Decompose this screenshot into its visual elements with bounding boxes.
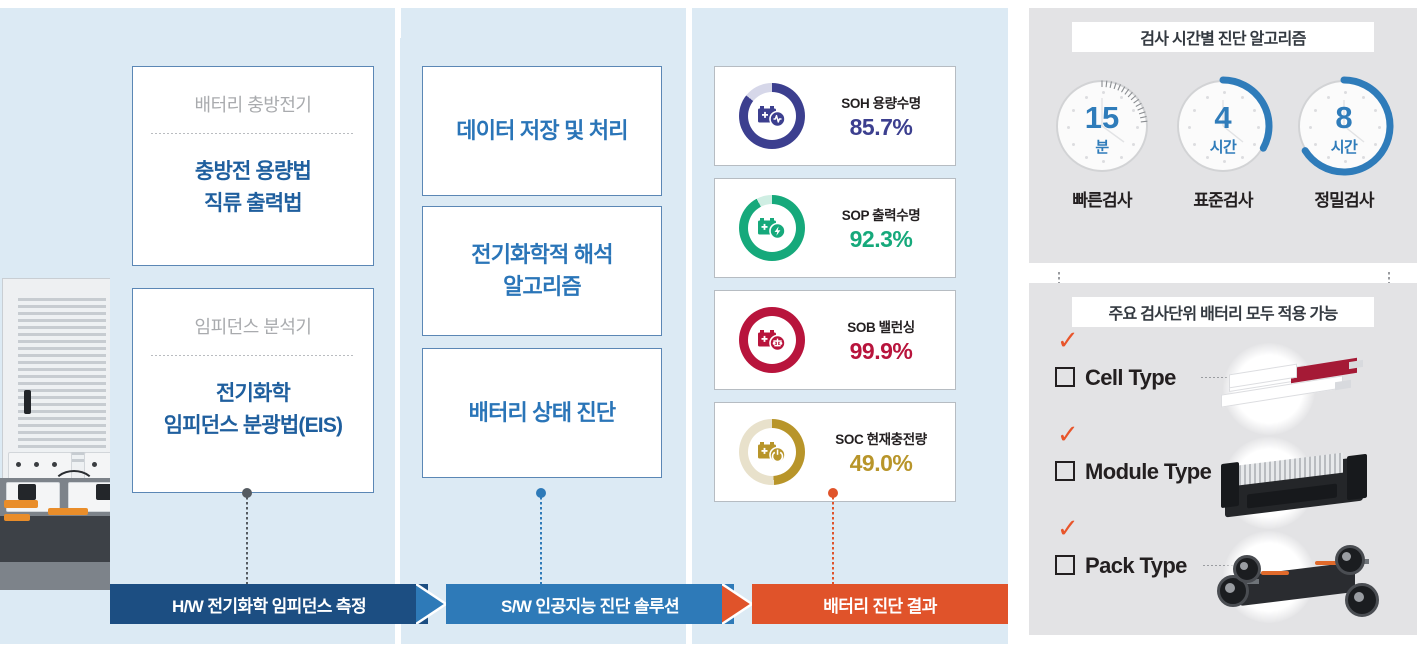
- gauge-card-sob: SOB 밸런싱 99.9%: [714, 290, 956, 390]
- card-body-line1: 배터리 상태 진단: [469, 397, 616, 429]
- gauge-label: SOB 밸런싱: [821, 316, 941, 336]
- gauge-label: SOC 현재충전량: [821, 428, 941, 448]
- column-results: SOH 용량수명 85.7%: [692, 38, 980, 593]
- checkbox-cell[interactable]: [1055, 367, 1075, 387]
- process-step-software[interactable]: S/W 인공지능 진단 솔루션: [446, 584, 734, 624]
- clock-item-quick[interactable]: 15 분 빠른검사: [1046, 80, 1158, 211]
- battery-type-label: Module Type: [1085, 459, 1211, 485]
- gauge-value: 99.9%: [821, 338, 941, 365]
- card-body-line1: 전기화학적 해석: [471, 239, 612, 271]
- gauge-label: SOH 용량수명: [821, 92, 941, 112]
- gauge-text: SOB 밸런싱 99.9%: [821, 316, 955, 365]
- battery-types-panel: 주요 검사단위 배터리 모두 적용 가능 ✓ Cell Type ✓ Modul…: [1029, 283, 1417, 635]
- clock-item-precision[interactable]: 8 시간 정밀검사: [1288, 80, 1400, 211]
- gauge-card-soh: SOH 용량수명 85.7%: [714, 66, 956, 166]
- gauge-text: SOP 출력수명 92.3%: [821, 204, 955, 253]
- connector-line: [246, 497, 248, 593]
- check-mark-icon: ✓: [1057, 330, 1079, 352]
- card-body-line2: 임피던스 분광법(EIS): [133, 410, 373, 442]
- battery-type-module[interactable]: ✓ Module Type: [1055, 435, 1395, 531]
- card-body-line2: 직류 출력법: [133, 188, 373, 220]
- gauge-value: 85.7%: [821, 114, 941, 141]
- panel-title: 주요 검사단위 배터리 모두 적용 가능: [1072, 297, 1374, 327]
- clock-number: 8: [1300, 102, 1388, 133]
- card-body: 전기화학적 해석 알고리즘: [423, 207, 661, 335]
- gauge-ring: [739, 419, 805, 485]
- process-step-hardware[interactable]: H/W 전기화학 임피던스 측정: [110, 584, 428, 624]
- inspection-time-panel: 검사 시간별 진단 알고리즘 15: [1029, 8, 1417, 263]
- process-step-label: H/W 전기화학 임피던스 측정: [172, 592, 366, 617]
- connector-line: [832, 497, 834, 593]
- gauge-value: 49.0%: [821, 450, 941, 477]
- clock-face: 8 시간: [1298, 80, 1390, 172]
- battery-type-label: Pack Type: [1085, 553, 1187, 579]
- card-body-line2: 알고리즘: [471, 271, 612, 303]
- connector-line: [540, 497, 542, 593]
- check-mark-icon: ✓: [1057, 424, 1079, 446]
- gauge-value: 92.3%: [821, 226, 941, 253]
- clock-number: 15: [1058, 102, 1146, 133]
- gauge-label: SOP 출력수명: [821, 204, 941, 224]
- card-body-line1: 충방전 용량법: [133, 156, 373, 188]
- gauge-text: SOC 현재충전량 49.0%: [821, 428, 955, 477]
- card-body: 충방전 용량법 직류 출력법: [133, 134, 373, 219]
- check-mark-icon: ✓: [1057, 518, 1079, 540]
- gauge-text: SOH 용량수명 85.7%: [821, 92, 955, 141]
- clock-unit: 시간: [1179, 136, 1267, 157]
- clock-face: 4 시간: [1177, 80, 1269, 172]
- card-body: 배터리 상태 진단: [423, 349, 661, 477]
- module-battery-icon: [1195, 435, 1385, 531]
- gauge-card-sop: SOP 출력수명 92.3%: [714, 178, 956, 278]
- battery-type-pack[interactable]: ✓ Pack Type: [1055, 529, 1395, 625]
- card-battery-diagnosis: 배터리 상태 진단: [422, 348, 662, 478]
- clock-item-standard[interactable]: 4 시간 표준검사: [1167, 80, 1279, 211]
- gauge-card-soc: SOC 현재충전량 49.0%: [714, 402, 956, 502]
- chevron-arrow-icon: [722, 584, 752, 624]
- card-impedance-analyzer: 임피던스 분석기 전기화학 임피던스 분광법(EIS): [132, 288, 374, 493]
- battery-type-cell[interactable]: ✓ Cell Type: [1055, 341, 1395, 437]
- cell-battery-icon: [1195, 341, 1385, 437]
- gauge-ring: [739, 307, 805, 373]
- clock-face: 15 분: [1056, 80, 1148, 172]
- card-body-line1: 전기화학: [133, 378, 373, 410]
- gauge-ring: [739, 83, 805, 149]
- process-step-label: 배터리 진단 결과: [823, 592, 937, 617]
- card-battery-cycler: 배터리 충방전기 충방전 용량법 직류 출력법: [132, 66, 374, 266]
- clock-number: 4: [1179, 102, 1267, 133]
- card-data-storage: 데이터 저장 및 처리: [422, 66, 662, 196]
- battery-pulse-icon: [748, 92, 796, 140]
- checkbox-pack[interactable]: [1055, 555, 1075, 575]
- battery-balance-icon: [748, 316, 796, 364]
- battery-type-label: Cell Type: [1085, 365, 1176, 391]
- card-body: 전기화학 임피던스 분광법(EIS): [133, 356, 373, 441]
- battery-bolt-icon: [748, 204, 796, 252]
- process-step-label: S/W 인공지능 진단 솔루션: [501, 592, 679, 617]
- gauge-ring: [739, 195, 805, 261]
- chevron-arrow-icon: [416, 584, 446, 624]
- pack-battery-icon: [1195, 529, 1385, 625]
- clock-unit: 분: [1058, 136, 1146, 157]
- column-software: 데이터 저장 및 처리 전기화학적 해석 알고리즘 배터리 상태 진단: [400, 38, 685, 593]
- process-step-results[interactable]: 배터리 진단 결과: [752, 584, 1008, 624]
- column-hardware: 배터리 충방전기 충방전 용량법 직류 출력법 임피던스 분석기 전기화학 임피…: [110, 38, 395, 593]
- battery-power-icon: [748, 428, 796, 476]
- clock-group: 15 분 빠른검사: [1029, 80, 1417, 255]
- card-echem-algorithm: 전기화학적 해석 알고리즘: [422, 206, 662, 336]
- clock-caption: 빠른검사: [1046, 186, 1158, 211]
- card-head-label: 배터리 충방전기: [133, 67, 373, 117]
- card-head-label: 임피던스 분석기: [133, 289, 373, 339]
- checkbox-module[interactable]: [1055, 461, 1075, 481]
- process-flow-bar: H/W 전기화학 임피던스 측정 S/W 인공지능 진단 솔루션 배터리 진단 …: [110, 584, 1008, 624]
- card-body: 데이터 저장 및 처리: [423, 67, 661, 195]
- card-body-line1: 데이터 저장 및 처리: [456, 115, 627, 147]
- clock-caption: 정밀검사: [1288, 186, 1400, 211]
- clock-caption: 표준검사: [1167, 186, 1279, 211]
- solution-overview-panel: 배터리 충방전기 충방전 용량법 직류 출력법 임피던스 분석기 전기화학 임피…: [0, 8, 1008, 644]
- panel-title: 검사 시간별 진단 알고리즘: [1072, 22, 1374, 52]
- clock-unit: 시간: [1300, 136, 1388, 157]
